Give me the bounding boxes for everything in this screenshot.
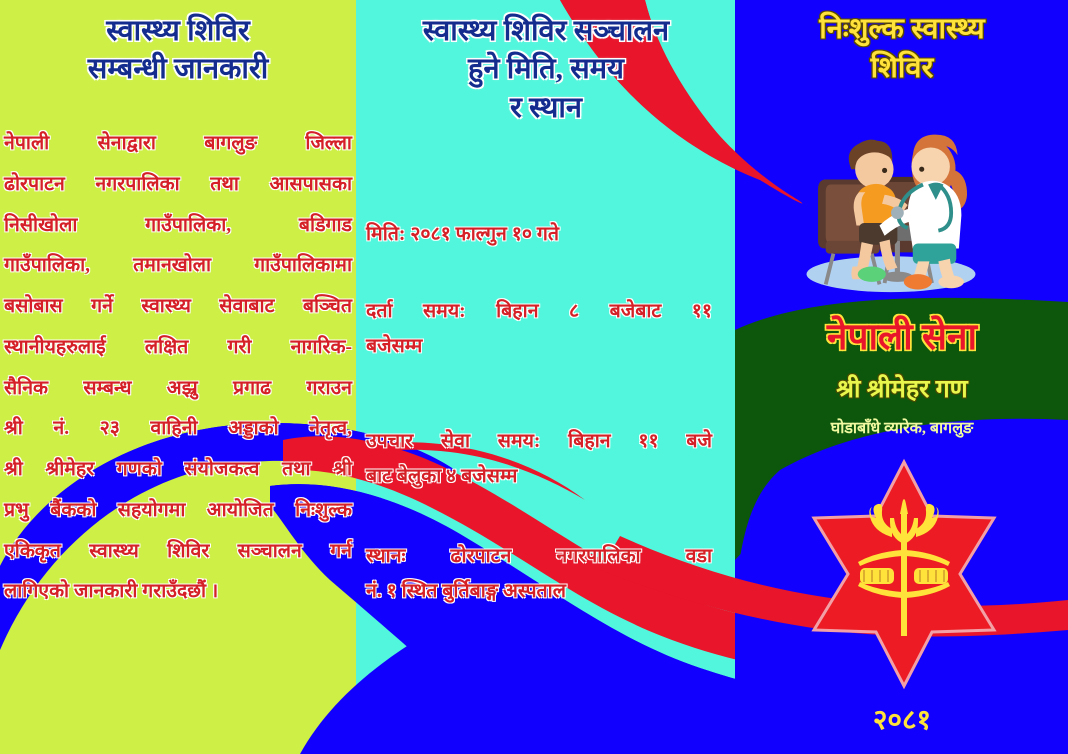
left-body-line: प्रभु बैंकको सहयोगमा आयोजित निःशुल्क bbox=[4, 491, 352, 532]
army-name: नेपाली सेना bbox=[740, 318, 1064, 359]
army-address: घोडाबाँधे व्यारेक, बागलुङ bbox=[740, 420, 1064, 438]
middle-heading-line-2: हुने मिति, समय bbox=[358, 50, 734, 88]
registration-time-block: दर्ता समय: बिहान ८ बजेबाट ११ बजेसम्म bbox=[366, 295, 712, 364]
left-body-line: सैनिक सम्बन्ध अझ्रु प्रगाढ गराउन bbox=[4, 369, 352, 410]
venue-block: स्थानः ढोरपाटन नगरपालिका वडा नं. १ स्थित… bbox=[366, 540, 712, 609]
left-body-line: गाउँपालिका, तमानखोला गाउँपालिकामा bbox=[4, 246, 352, 287]
left-body-line: श्री श्रीमेहर गणको संयोजकत्व तथा श्री bbox=[4, 450, 352, 491]
left-body-line: लागिएको जानकारी गराउँदछौं । bbox=[4, 572, 352, 613]
registration-time-line-1: दर्ता समय: बिहान ८ बजेबाट ११ bbox=[366, 295, 712, 330]
army-unit-name: श्री श्रीमेहर गण bbox=[740, 376, 1064, 404]
camp-date-block: मिति: २०८१ फाल्गुन १० गते bbox=[366, 218, 712, 253]
registration-time-line-2: बजेसम्म bbox=[366, 330, 712, 365]
left-body-line: एकिकृत स्वास्थ्य शिविर सञ्चालन गर्न bbox=[4, 532, 352, 573]
left-body-line: श्री नं. २३ वाहिनी अड्डाको नेतृत्व, bbox=[4, 409, 352, 450]
year-label: २०८१ bbox=[740, 700, 1064, 738]
poster-canvas: स्वास्थ्य शिविर सम्बन्धी जानकारी नेपाली … bbox=[0, 0, 1068, 754]
middle-heading-line-1: स्वास्थ्य शिविर सञ्चालन bbox=[358, 12, 734, 50]
middle-heading-line-3: र स्थान bbox=[358, 89, 734, 127]
left-body-line: नेपाली सेनाद्वारा बागलुङ जिल्ला bbox=[4, 124, 352, 165]
left-heading-line-2: सम्बन्धी जानकारी bbox=[10, 50, 346, 88]
right-panel-heading: निःशुल्क स्वास्थ्य शिविर bbox=[740, 10, 1064, 88]
venue-line-2: नं. १ स्थित बुर्तिबाङ्ग अस्पताल bbox=[366, 575, 712, 610]
left-body-line: निसीखोला गाउँपालिका, बडिगाड bbox=[4, 206, 352, 247]
right-heading-line-2: शिविर bbox=[740, 49, 1064, 88]
right-heading-line-1: निःशुल्क स्वास्थ्य bbox=[740, 10, 1064, 49]
left-body-line: बसोबास गर्ने स्वास्थ्य सेवाबाट बञ्चित bbox=[4, 287, 352, 328]
left-panel-heading: स्वास्थ्य शिविर सम्बन्धी जानकारी bbox=[10, 12, 346, 89]
left-heading-line-1: स्वास्थ्य शिविर bbox=[10, 12, 346, 50]
camp-date-text: मिति: २०८१ फाल्गुन १० गते bbox=[366, 218, 712, 253]
treatment-time-block: उपचार सेवा समय: बिहान ११ बजे बाट बेलुका … bbox=[366, 425, 712, 494]
middle-panel-heading: स्वास्थ्य शिविर सञ्चालन हुने मिति, समय र… bbox=[358, 12, 734, 127]
venue-line-1: स्थानः ढोरपाटन नगरपालिका वडा bbox=[366, 540, 712, 575]
treatment-time-line-1: उपचार सेवा समय: बिहान ११ बजे bbox=[366, 425, 712, 460]
treatment-time-line-2: बाट बेलुका ४ बजेसम्म bbox=[366, 460, 712, 495]
left-panel-body: नेपाली सेनाद्वारा बागलुङ जिल्ला ढोरपाटन … bbox=[4, 124, 352, 613]
left-body-line: ढोरपाटन नगरपालिका तथा आसपासका bbox=[4, 165, 352, 206]
left-body-line: स्थानीयहरुलाई लक्षित गरी नागरिक- bbox=[4, 328, 352, 369]
